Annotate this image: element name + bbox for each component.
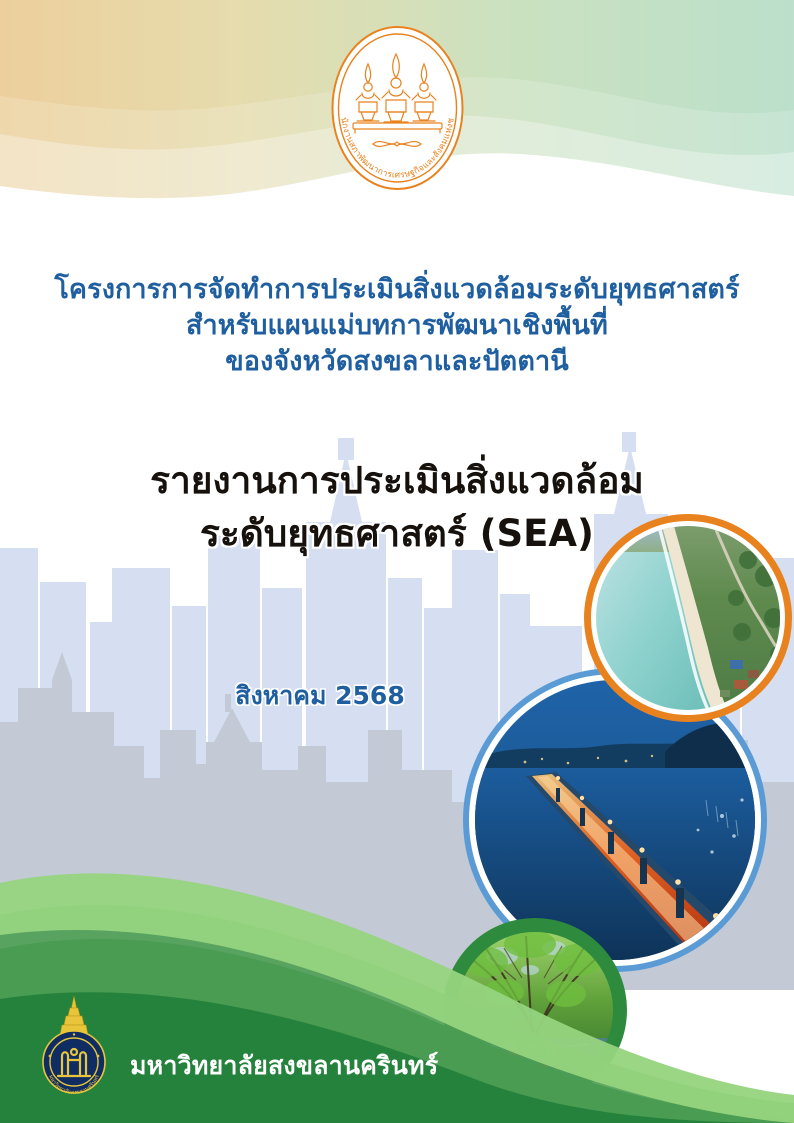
photo-circle-group [430,500,794,1120]
project-title-block: โครงการการจัดทำการประเมินสิ่งแวดล้อมระดั… [0,272,794,380]
mangrove-boat-photo [443,918,627,1102]
coastal-aerial-photo [584,514,792,722]
psu-logo: มหาวิทยาลัยสงขลานครินทร์ [24,994,124,1100]
project-title-line-3: ของจังหวัดสงขลาและปัตตานี [0,344,794,380]
report-cover-page: สำนักงานสภาพัฒนาการเศรษฐกิจและสังคมแห่งช… [0,0,794,1123]
nesdc-emblem: สำนักงานสภาพัฒนาการเศรษฐกิจและสังคมแห่งช… [329,24,466,192]
project-title-line-2: สำหรับแผนแม่บทการพัฒนาเชิงพื้นที่ [0,308,794,344]
organization-name: มหาวิทยาลัยสงขลานครินทร์ [130,1046,438,1086]
project-title-line-1: โครงการการจัดทำการประเมินสิ่งแวดล้อมระดั… [0,272,794,308]
publication-date: สิงหาคม 2568 [235,681,404,710]
